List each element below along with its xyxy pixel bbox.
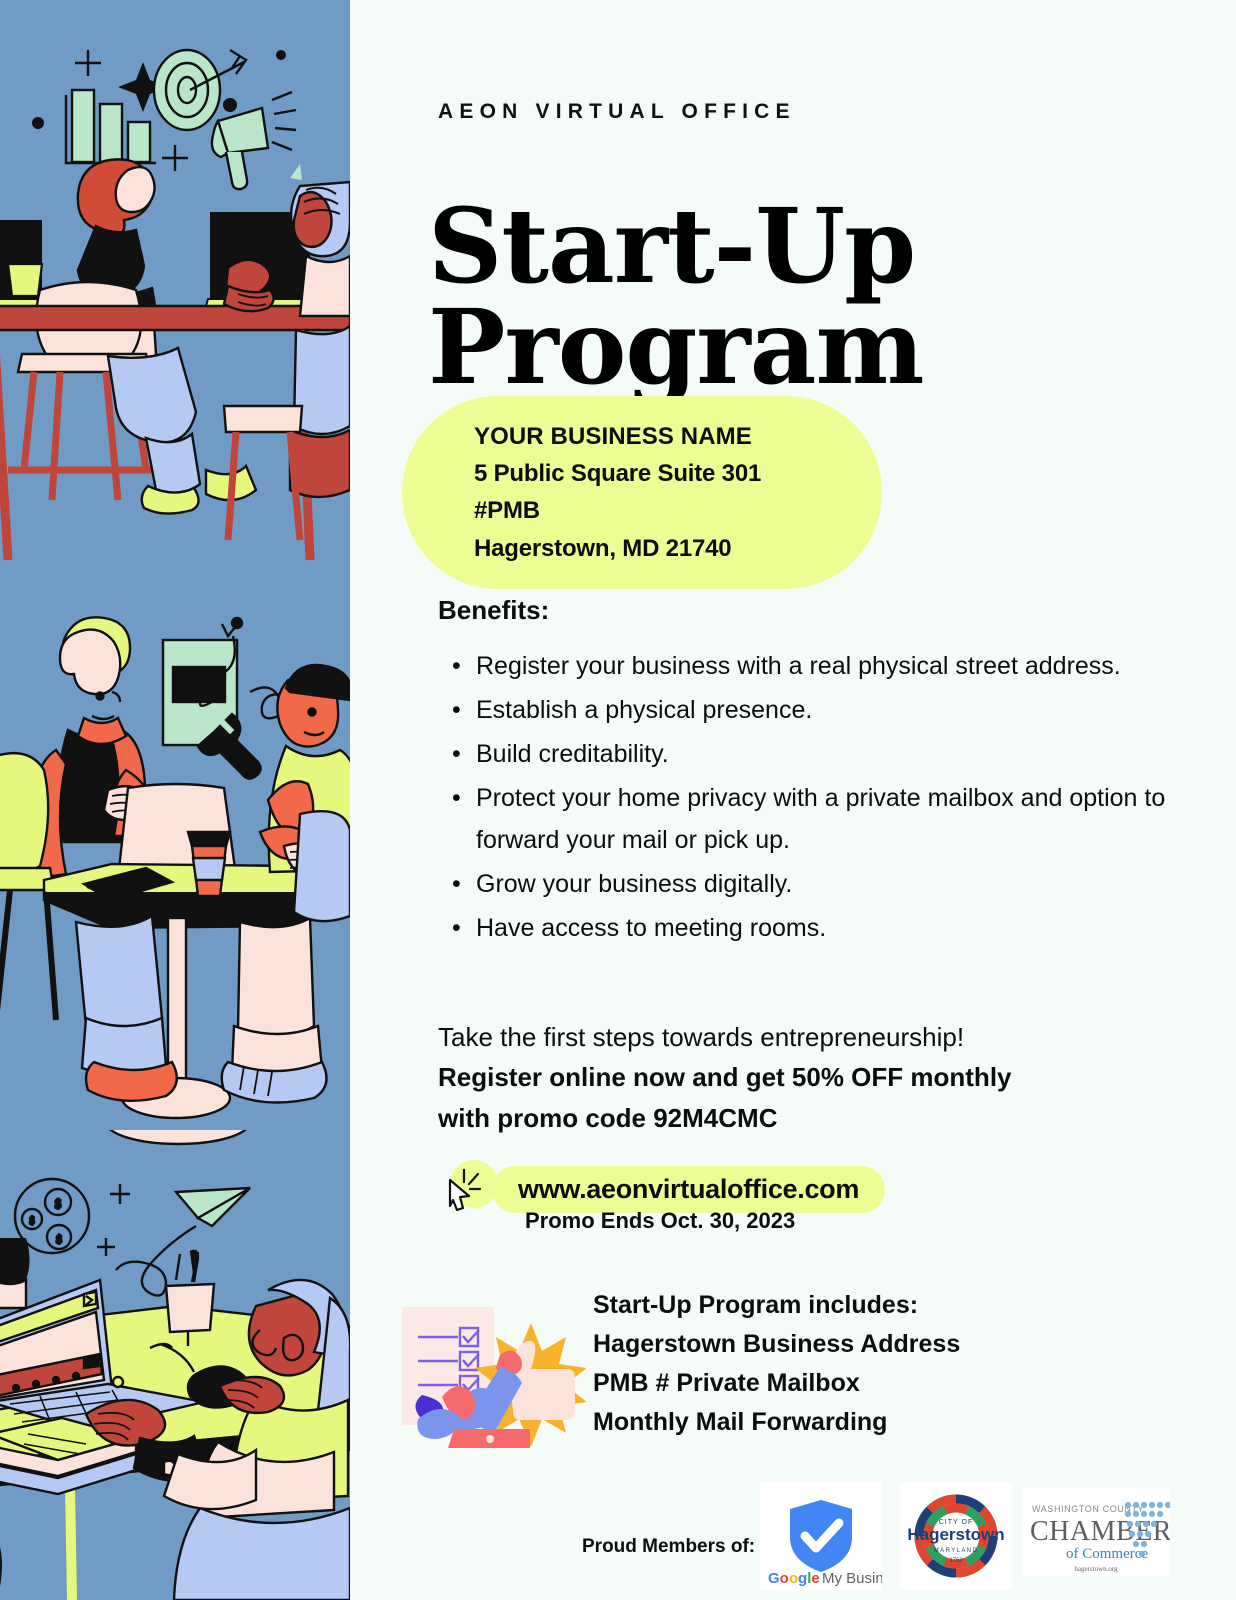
cta-line-2: Register online now and get 50% OFF mont… <box>438 1057 1138 1098</box>
address-city-state-zip: Hagerstown, MD 21740 <box>474 530 882 567</box>
gmb-letter-g: G <box>768 1570 780 1587</box>
address-street: 5 Public Square Suite 301 <box>474 455 882 492</box>
includes-item-3: Monthly Mail Forwarding <box>593 1403 1193 1442</box>
list-item: Protect your home privacy with a private… <box>464 777 1194 861</box>
list-item: Establish a physical presence. <box>464 689 1194 731</box>
gmb-letter-o1: o <box>780 1570 789 1587</box>
address-card: YOUR BUSINESS NAME 5 Public Square Suite… <box>402 396 882 589</box>
benefits-heading: Benefits: <box>438 595 549 626</box>
hagerstown-name: Hagerstown <box>907 1525 1004 1544</box>
cta-line-3: with promo code 92M4CMC <box>438 1098 1138 1139</box>
svg-text:Google: Google <box>768 1570 820 1587</box>
page-title: Start-Up Program <box>428 197 1128 399</box>
includes-item-2: PMB # Private Mailbox <box>593 1364 1193 1403</box>
svg-text:$: $ <box>56 1232 62 1246</box>
flyer-page: $ $ $ <box>0 0 1236 1600</box>
proud-members-label: Proud Members of: <box>582 1536 755 1558</box>
gmb-letter-e: e <box>811 1570 819 1587</box>
cta-line-1: Take the first steps towards entrepreneu… <box>438 1018 1138 1057</box>
svg-text:$: $ <box>55 1196 62 1211</box>
illustration-laptop-work: $ $ $ <box>0 1130 350 1600</box>
city-of-hagerstown-logo: CITY OF Hagerstown MARYLAND 1762 <box>900 1482 1012 1590</box>
includes-item-1: Hagerstown Business Address <box>593 1325 1193 1364</box>
benefits-list: Register your business with a real physi… <box>438 645 1194 951</box>
hagerstown-year: 1762 <box>949 1558 963 1564</box>
hagerstown-maryland: MARYLAND <box>934 1548 978 1554</box>
chamber-site: hagerstown.org <box>1074 1565 1118 1573</box>
list-item: Have access to meeting rooms. <box>464 907 1194 949</box>
promo-end-date: Promo Ends Oct. 30, 2023 <box>525 1208 795 1234</box>
gmb-letter-g2: g <box>798 1570 807 1587</box>
click-cursor-icon <box>436 1158 498 1220</box>
content-column: AEON VIRTUAL OFFICE Start-Up Program YOU… <box>350 0 1236 1600</box>
illustration-office-desk <box>0 0 350 600</box>
includes-text-block: Start-Up Program includes: Hagerstown Bu… <box>593 1286 1193 1442</box>
list-item: Grow your business digitally. <box>464 863 1194 905</box>
gmb-suffix: My Business <box>822 1570 882 1587</box>
call-to-action: Take the first steps towards entrepreneu… <box>438 1018 1138 1139</box>
brand-eyebrow: AEON VIRTUAL OFFICE <box>438 100 796 124</box>
google-my-business-logo: Google My Business <box>760 1482 882 1590</box>
illustration-cafe-meeting <box>0 600 350 1130</box>
footer: Proud Members of: Google My Business <box>350 1460 1236 1600</box>
website-url[interactable]: www.aeonvirtualoffice.com <box>492 1166 885 1213</box>
title-line-2: Program <box>428 298 1128 399</box>
list-item: Build creditability. <box>464 733 1194 775</box>
title-line-1: Start-Up <box>428 197 1128 298</box>
gmb-letter-o2: o <box>789 1570 798 1587</box>
chamber-of-commerce: of Commerce <box>1066 1546 1148 1562</box>
chamber-of-commerce-logo: WASHINGTON COUNTY CHAMBER of Commerce ha… <box>1022 1488 1170 1576</box>
address-pmb: #PMB <box>474 492 882 529</box>
address-business-name: YOUR BUSINESS NAME <box>474 418 882 455</box>
svg-text:$: $ <box>30 1216 35 1227</box>
includes-heading: Start-Up Program includes: <box>593 1286 1193 1325</box>
list-item: Register your business with a real physi… <box>464 645 1194 687</box>
illustration-checklist-thumbsup <box>396 1283 586 1448</box>
illustration-column: $ $ $ <box>0 0 350 1600</box>
